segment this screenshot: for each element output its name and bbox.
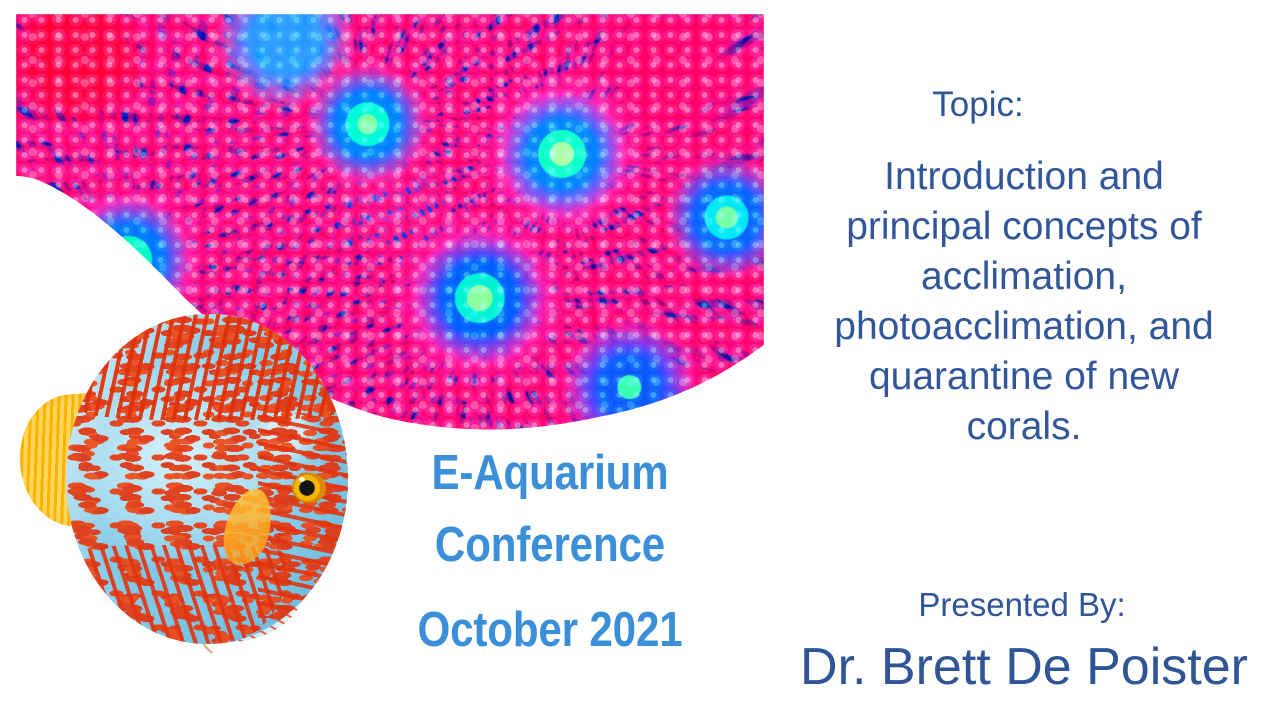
fish-head-stripes xyxy=(258,413,348,618)
topic-line-1: Introduction and xyxy=(774,152,1274,202)
slide-right-panel: Topic: Introduction and principal concep… xyxy=(768,0,1280,720)
conference-title-line-1: E-Aquarium xyxy=(387,438,714,510)
topic-line-2: principal concepts of xyxy=(774,202,1274,252)
fish-eye xyxy=(292,473,326,503)
conference-title-line-2: Conference xyxy=(387,510,714,582)
topic-line-3: acclimation, xyxy=(774,252,1274,302)
presented-by-label: Presented By: xyxy=(772,586,1272,624)
topic-line-5: quarantine of new xyxy=(774,352,1274,402)
conference-date-line: October 2021 xyxy=(387,595,714,667)
topic-line-6: corals. xyxy=(774,402,1274,452)
presentation-slide: E-Aquarium Conference October 2021 Topic… xyxy=(0,0,1280,720)
presenter-name: Dr. Brett De Poister xyxy=(768,640,1280,695)
topic-body: Introduction and principal concepts of a… xyxy=(774,152,1274,451)
conference-title-block: E-Aquarium Conference October 2021 xyxy=(387,438,714,667)
topic-line-4: photoacclimation, and xyxy=(774,302,1274,352)
discus-fish-image xyxy=(14,300,374,710)
topic-label: Topic: xyxy=(768,86,1188,125)
fish-eye-highlight xyxy=(299,477,305,482)
